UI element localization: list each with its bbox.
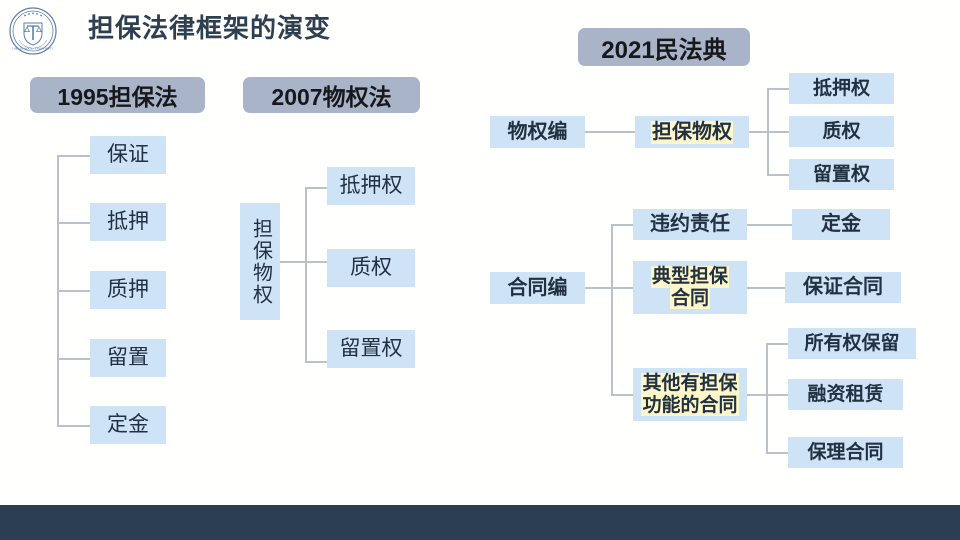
- node-law1995-2[interactable]: 质押: [90, 271, 166, 309]
- node-law1995-4[interactable]: 定金: [90, 406, 166, 444]
- footer-bar: [0, 505, 960, 540]
- connector-branch: [611, 224, 633, 226]
- connector-branch: [57, 425, 90, 427]
- connector-branch: [305, 261, 327, 263]
- connector-branch: [766, 452, 788, 454]
- node-code2021-leaf-liuzhiquan[interactable]: 留置权: [789, 159, 894, 190]
- node-law2007-0[interactable]: 抵押权: [327, 167, 415, 205]
- node-code2021-mid-danbaowuquan[interactable]: 担保物权: [635, 116, 749, 148]
- connector-branch: [611, 394, 633, 396]
- connector-branch: [766, 394, 788, 396]
- column-header-code2021: 2021民法典: [578, 28, 750, 66]
- node-code2021-leaf-diyaquan[interactable]: 抵押权: [789, 73, 894, 104]
- node-code2021-mid-dianxingdanbao[interactable]: 典型担保 合同: [633, 261, 747, 314]
- connector-branch: [57, 290, 90, 292]
- slide-canvas: LAW SCHOOL · UNIVERSITY 担保法律框架的演变 1995担保…: [0, 0, 960, 540]
- node-code2021-leaf-dingjin[interactable]: 定金: [792, 209, 890, 240]
- node-law2007-1[interactable]: 质权: [327, 249, 415, 287]
- node-label-highlighted: 担保物权: [651, 121, 733, 144]
- connector-mid-stem: [749, 131, 768, 133]
- connector-branch: [767, 174, 789, 176]
- connector-leaf-stem: [747, 394, 767, 396]
- connector-branch: [767, 88, 789, 90]
- connector-branch: [305, 187, 327, 189]
- node-code2021-root-wuquan[interactable]: 物权编: [490, 116, 585, 148]
- node-law1995-1[interactable]: 抵押: [90, 203, 166, 241]
- node-label-highlighted-line2: 功能的合同: [641, 395, 738, 417]
- connector-branch: [611, 287, 633, 289]
- column-header-law1995: 1995担保法: [30, 77, 205, 113]
- connector-branch: [57, 155, 90, 157]
- connector-root-stem: [585, 131, 635, 133]
- column-header-law2007: 2007物权法: [243, 77, 420, 113]
- node-code2021-mid-qitahetong[interactable]: 其他有担保 功能的合同: [633, 368, 747, 421]
- connector-trunk-law2007: [305, 187, 307, 361]
- page-title: 担保法律框架的演变: [88, 8, 331, 45]
- node-code2021-leaf-suoyouquanbaoliu[interactable]: 所有权保留: [788, 328, 916, 359]
- node-code2021-mid-weiyuezeren[interactable]: 违约责任: [633, 209, 747, 240]
- node-code2021-leaf-baolihetong[interactable]: 保理合同: [788, 437, 903, 468]
- node-law2007-2[interactable]: 留置权: [327, 330, 415, 368]
- node-label-highlighted-line2: 合同: [670, 288, 710, 310]
- connector-branch: [305, 361, 327, 363]
- node-code2021-leaf-baozhenghetong[interactable]: 保证合同: [785, 272, 901, 303]
- node-label-highlighted-line1: 其他有担保: [641, 373, 738, 395]
- node-law2007-root[interactable]: 担保物权: [240, 203, 280, 320]
- connector-branch: [766, 343, 788, 345]
- connector-root-stem: [280, 261, 306, 263]
- connector-trunk-qita: [766, 343, 768, 452]
- connector-branch: [57, 222, 90, 224]
- connector-root-stem: [585, 287, 612, 289]
- connector-leaf-stem: [747, 287, 785, 289]
- connector-trunk-hetong: [611, 224, 613, 394]
- node-label-highlighted-line1: 典型担保: [651, 266, 729, 288]
- node-law1995-3[interactable]: 留置: [90, 339, 166, 377]
- svg-text:LAW SCHOOL · UNIVERSITY: LAW SCHOOL · UNIVERSITY: [12, 47, 54, 51]
- node-code2021-leaf-zhiquan[interactable]: 质权: [789, 116, 894, 147]
- connector-branch: [767, 131, 789, 133]
- node-law1995-0[interactable]: 保证: [90, 136, 166, 174]
- connector-leaf-stem: [747, 224, 792, 226]
- connector-branch: [57, 358, 90, 360]
- university-seal-icon: LAW SCHOOL · UNIVERSITY: [8, 6, 58, 56]
- node-code2021-root-hetong[interactable]: 合同编: [490, 272, 585, 304]
- node-code2021-leaf-rongzizulin[interactable]: 融资租赁: [788, 379, 903, 410]
